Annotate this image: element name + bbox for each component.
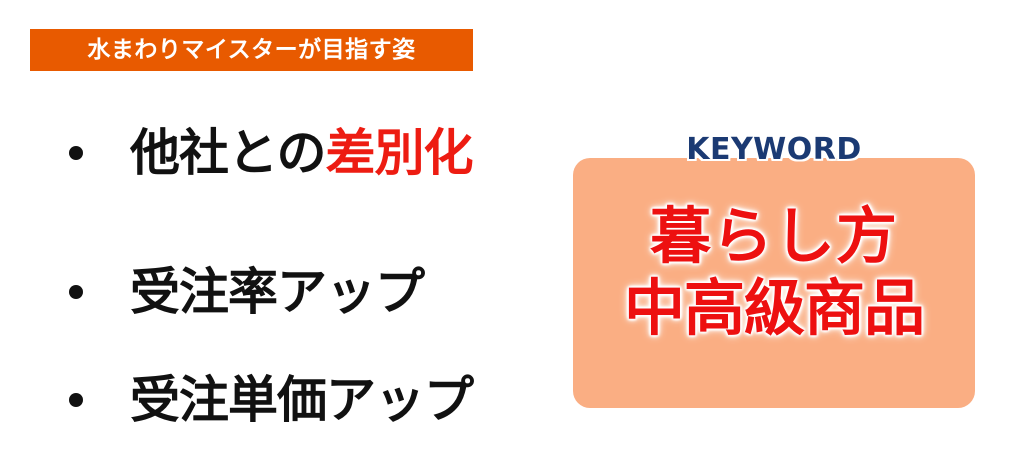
list-item: 受注単価アップ <box>60 375 473 425</box>
header-banner: 水まわりマイスターが目指す姿 <box>30 29 473 71</box>
list-item: 受注率アップ <box>60 267 424 317</box>
bullet-dot-icon <box>69 285 83 299</box>
keyword-card-body: 暮らし方 中高級商品 <box>573 205 975 341</box>
bullet-item-1-black: 他社との <box>130 124 326 182</box>
bullet-item-3-black: 受注単価アップ <box>130 371 473 429</box>
bullet-item-3-text: 受注単価アップ <box>130 375 473 425</box>
header-banner-label: 水まわりマイスターが目指す姿 <box>87 39 415 62</box>
list-item: 他社との差別化 <box>60 128 473 178</box>
bullet-item-1-red: 差別化 <box>326 124 473 182</box>
keyword-line-1: 暮らし方 <box>573 205 975 269</box>
bullet-item-2-black: 受注率アップ <box>130 263 424 321</box>
bullet-dot-icon <box>69 393 83 407</box>
bullet-item-1-text: 他社との差別化 <box>130 128 473 178</box>
keyword-card-label: KEYWORD <box>573 135 975 165</box>
bullet-dot-icon <box>69 146 83 160</box>
keyword-line-2: 中高級商品 <box>573 277 975 341</box>
bullet-item-2-text: 受注率アップ <box>130 267 424 317</box>
